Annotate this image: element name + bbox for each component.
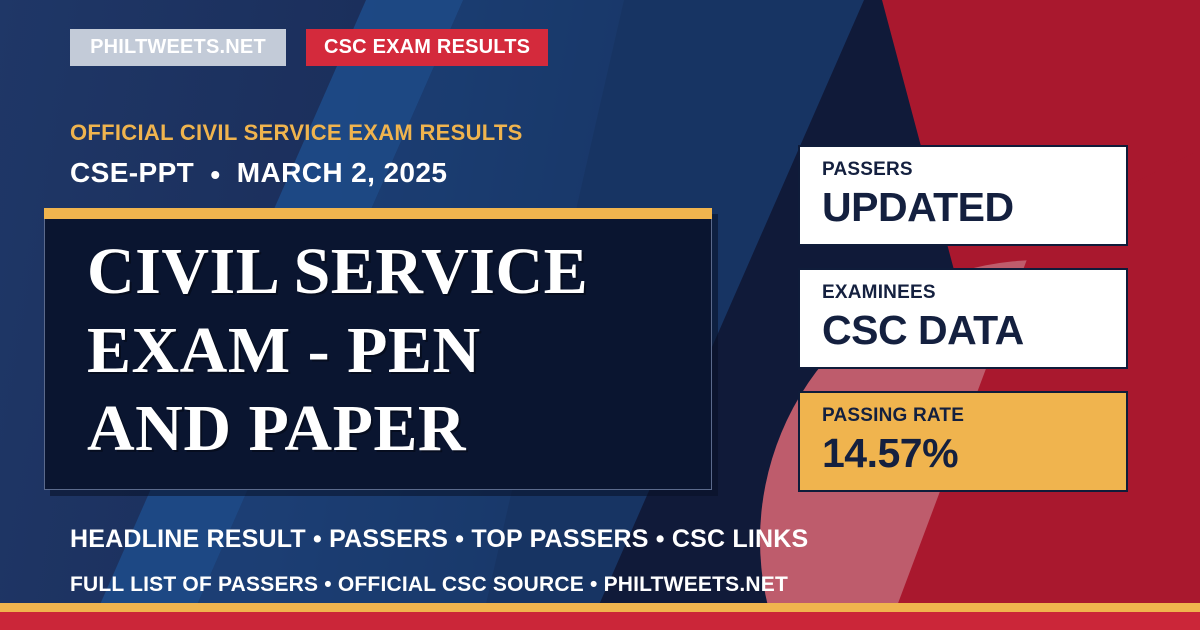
poster-canvas: PHILTWEETS.NET CSC EXAM RESULTS OFFICIAL… bbox=[0, 0, 1200, 630]
exam-code-text: CSE-PPT bbox=[70, 157, 194, 188]
stat-card-list: PASSERS UPDATED EXAMINEES CSC DATA PASSI… bbox=[798, 145, 1128, 514]
page-title: CIVIL SERVICE EXAM - PEN AND PAPER bbox=[45, 219, 711, 489]
exam-meta-line: CSE-PPT • MARCH 2, 2025 bbox=[70, 156, 447, 191]
stat-card-value: UPDATED bbox=[822, 186, 1104, 229]
footer-primary-line: HEADLINE RESULT • PASSERS • TOP PASSERS … bbox=[70, 527, 808, 552]
footer-secondary-line: FULL LIST OF PASSERS • OFFICIAL CSC SOUR… bbox=[70, 574, 788, 595]
headline-line-1: CIVIL SERVICE bbox=[87, 233, 687, 312]
kicker-text: OFFICIAL CIVIL SERVICE EXAM RESULTS bbox=[70, 122, 523, 144]
headline-line-3: AND PAPER bbox=[87, 390, 687, 469]
site-badge[interactable]: PHILTWEETS.NET bbox=[70, 29, 286, 66]
poster-content: PHILTWEETS.NET CSC EXAM RESULTS OFFICIAL… bbox=[0, 0, 1200, 630]
badge-row: PHILTWEETS.NET CSC EXAM RESULTS bbox=[70, 29, 548, 66]
stat-card-examinees: EXAMINEES CSC DATA bbox=[798, 268, 1128, 369]
category-badge[interactable]: CSC EXAM RESULTS bbox=[306, 29, 548, 66]
stat-card-passers: PASSERS UPDATED bbox=[798, 145, 1128, 246]
exam-date-text: MARCH 2, 2025 bbox=[237, 157, 448, 188]
stat-card-value: CSC DATA bbox=[822, 309, 1104, 352]
stat-card-label: PASSERS bbox=[822, 160, 1104, 179]
headline-panel: CIVIL SERVICE EXAM - PEN AND PAPER bbox=[44, 208, 712, 490]
footer-gold-stripe bbox=[0, 603, 1200, 612]
stat-card-passing-rate: PASSING RATE 14.57% bbox=[798, 391, 1128, 492]
stat-card-label: PASSING RATE bbox=[822, 406, 1104, 425]
headline-line-2: EXAM - PEN bbox=[87, 312, 687, 391]
stat-card-value: 14.57% bbox=[822, 432, 1104, 475]
headline-gold-accent-bar bbox=[44, 208, 712, 219]
stat-card-label: EXAMINEES bbox=[822, 283, 1104, 302]
bullet-separator-icon: • bbox=[202, 158, 228, 192]
footer-red-stripe bbox=[0, 612, 1200, 630]
